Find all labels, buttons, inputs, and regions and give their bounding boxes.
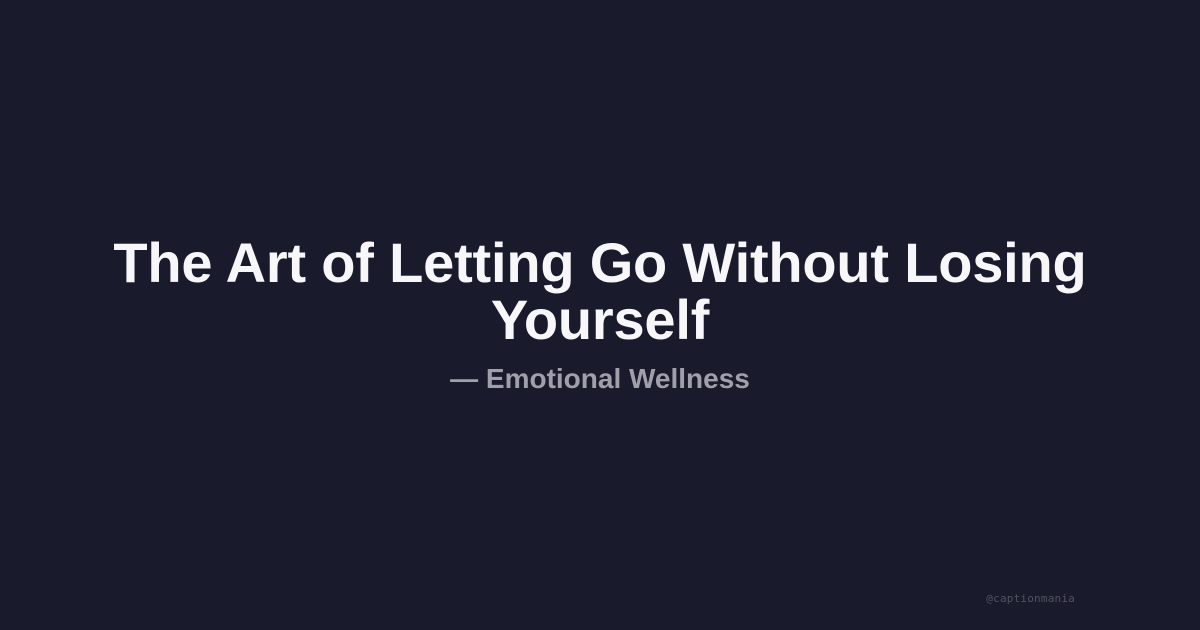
- quote-content-block: The Art of Letting Go Without Losing You…: [100, 0, 1100, 630]
- quote-title: The Art of Letting Go Without Losing You…: [100, 234, 1100, 348]
- watermark-handle: @captionmania: [986, 592, 1075, 605]
- quote-card: The Art of Letting Go Without Losing You…: [0, 0, 1200, 630]
- quote-attribution: — Emotional Wellness: [100, 362, 1100, 396]
